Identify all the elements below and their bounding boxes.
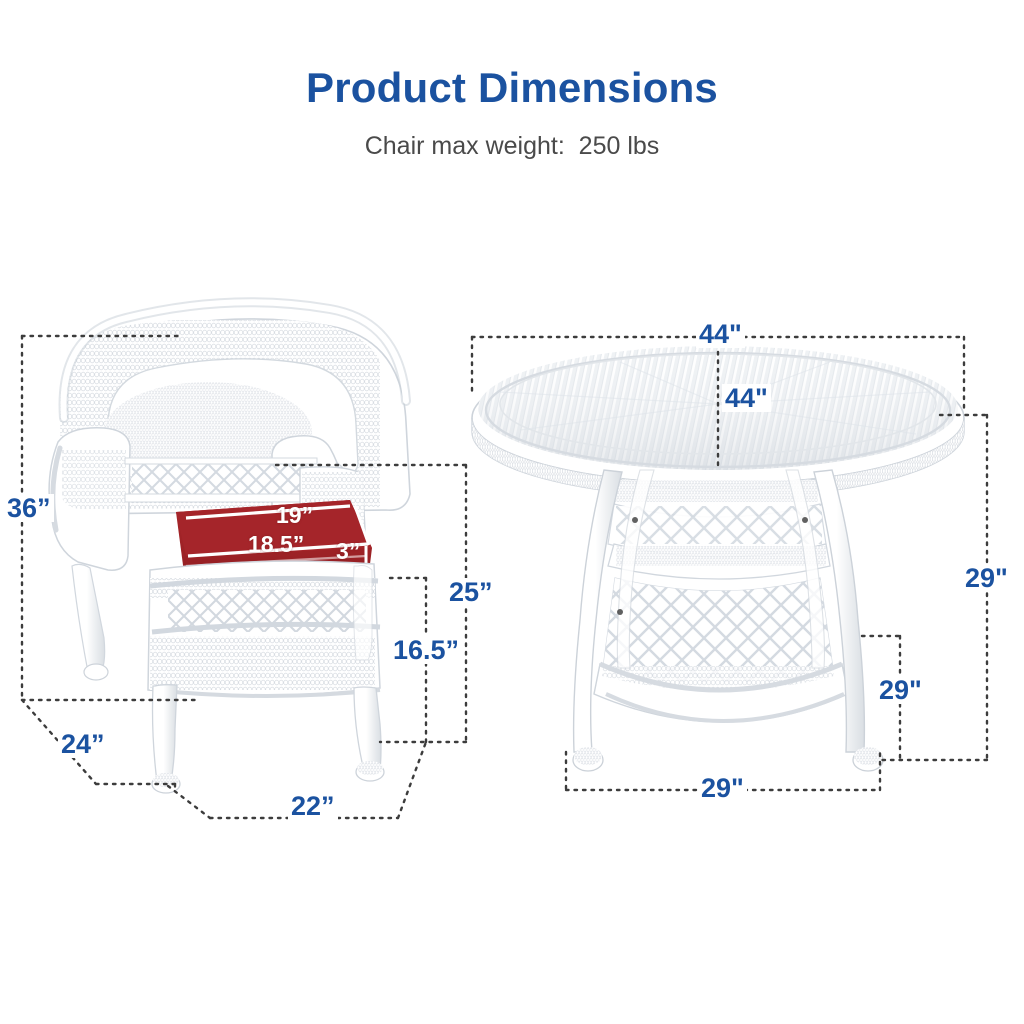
chair-22-line-c xyxy=(398,742,426,818)
chair-arm-lattice xyxy=(125,458,317,502)
table-feet xyxy=(573,747,883,771)
table-base-width-label: 29" xyxy=(698,774,747,802)
chair-height-label: 36” xyxy=(4,494,54,522)
furniture-illustration xyxy=(0,0,1024,1024)
chair-22-line-a xyxy=(168,786,210,818)
chair-back-left-leg xyxy=(72,564,108,680)
chair-width-label: 22” xyxy=(288,792,338,820)
cushion-front-width-label: 18.5” xyxy=(248,533,304,556)
table-diameter-label: 44" xyxy=(696,320,745,348)
chair-front-right-leg xyxy=(354,687,384,781)
chair-seat-height-label: 16.5” xyxy=(390,636,462,664)
chair-back-right-leg xyxy=(353,566,372,661)
chair-left-arm xyxy=(49,428,130,570)
cushion-thickness-label: 3” xyxy=(336,540,360,563)
table-base xyxy=(573,470,883,771)
table-base-height-label: 29" xyxy=(876,676,925,704)
chair-arm-height-label: 25” xyxy=(446,578,496,606)
table-illustration xyxy=(472,346,964,771)
product-dimensions-infographic: Product Dimensions Chair max weight: 250… xyxy=(0,0,1024,1024)
chair-apron xyxy=(148,561,380,696)
table-depth-label: 44" xyxy=(722,384,771,412)
table-height-label: 29" xyxy=(962,564,1011,592)
chair-depth-label: 24” xyxy=(58,730,108,758)
cushion-back-width-label: 19” xyxy=(276,504,313,527)
